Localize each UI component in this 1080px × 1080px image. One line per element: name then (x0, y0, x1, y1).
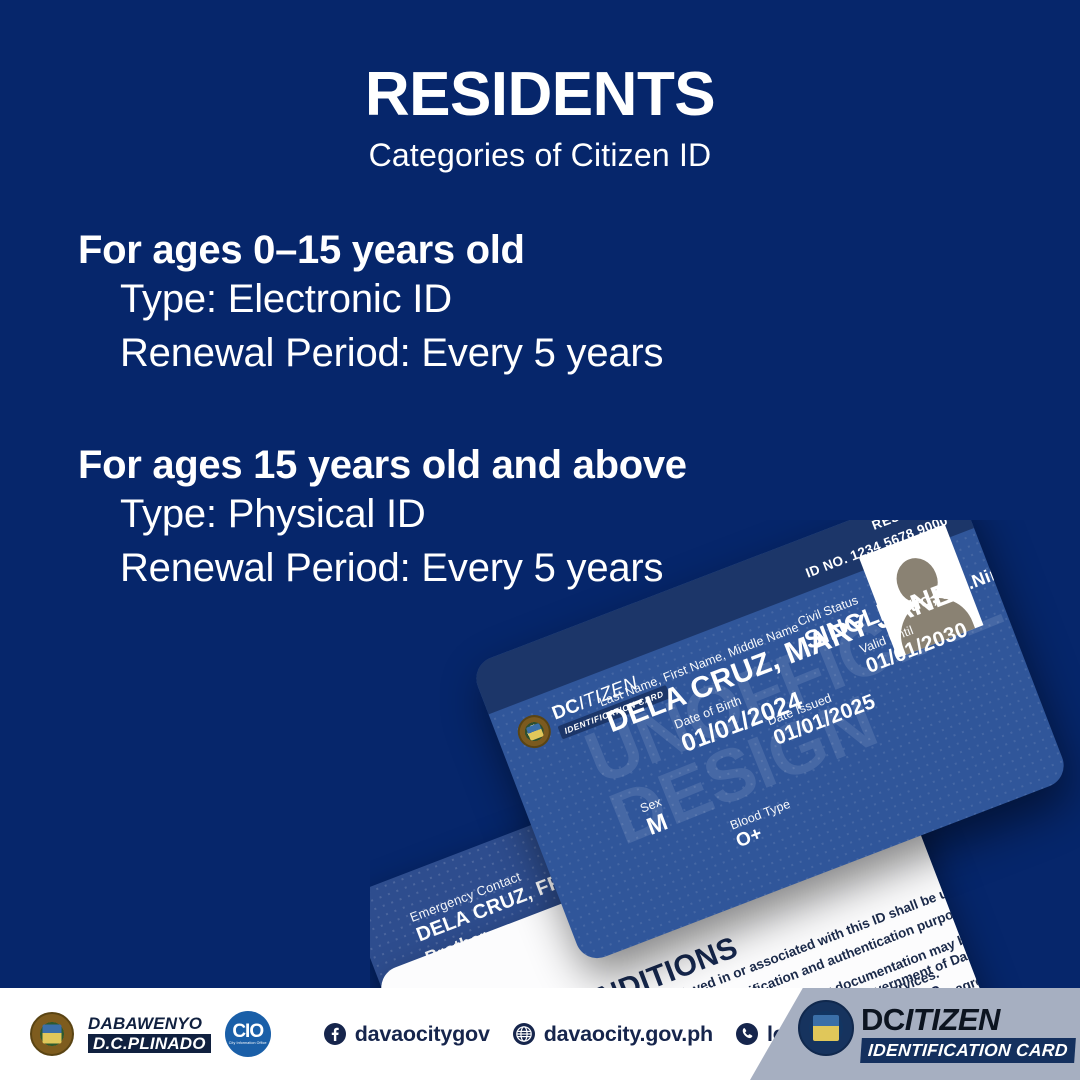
dabawenyo-line2: D.C.PLINADO (88, 1034, 211, 1053)
category-heading: For ages 15 years old and above (78, 443, 687, 487)
category-renewal-line: Renewal Period: Every 5 years (120, 326, 663, 380)
category-type-line: Type: Electronic ID (120, 272, 663, 326)
contact-website[interactable]: davaocity.gov.ph (512, 1022, 713, 1047)
dcitizen-sub-label: IDENTIFICATION CARD (860, 1038, 1076, 1063)
cio-subtext: City Information Office (229, 1042, 267, 1046)
contact-facebook-text: davaocitygov (355, 1022, 490, 1047)
footer-branding: DABAWENYO D.C.PLINADO CIO City Informati… (30, 1011, 271, 1057)
page-title: RESIDENTS (0, 62, 1080, 127)
davao-seal-icon (798, 1000, 854, 1056)
contact-facebook[interactable]: davaocitygov (323, 1022, 490, 1047)
dabawenyo-line1: DABAWENYO (88, 1015, 211, 1032)
davao-seal-icon (30, 1012, 74, 1056)
contact-website-text: davaocity.gov.ph (544, 1022, 713, 1047)
dcitizen-itizen-label: ITIZEN (905, 1002, 1000, 1037)
dabawenyo-footer-mark: DABAWENYO D.C.PLINADO (88, 1015, 211, 1054)
category-block-young: For ages 0–15 years old Type: Electronic… (78, 228, 663, 380)
header: RESIDENTS Categories of Citizen ID (0, 0, 1080, 174)
cio-logo-icon: CIO City Information Office (225, 1011, 271, 1057)
cio-text: CIO (232, 1022, 263, 1041)
footer-bar: DABAWENYO D.C.PLINADO CIO City Informati… (0, 988, 1080, 1080)
globe-icon (512, 1022, 536, 1046)
dcitizen-dc-label: DC (861, 1002, 905, 1037)
category-heading: For ages 0–15 years old (78, 228, 663, 272)
page-subtitle: Categories of Citizen ID (0, 137, 1080, 174)
id-card-illustration: Emergency Contact DELA CRUZ, FRANCIS Bro… (370, 520, 1080, 1020)
facebook-icon (323, 1022, 347, 1046)
footer-dcitizen-logo: DCITIZEN IDENTIFICATION CARD (750, 988, 1080, 1080)
dcitizen-logo: DCITIZEN IDENTIFICATION CARD (798, 1000, 1075, 1063)
